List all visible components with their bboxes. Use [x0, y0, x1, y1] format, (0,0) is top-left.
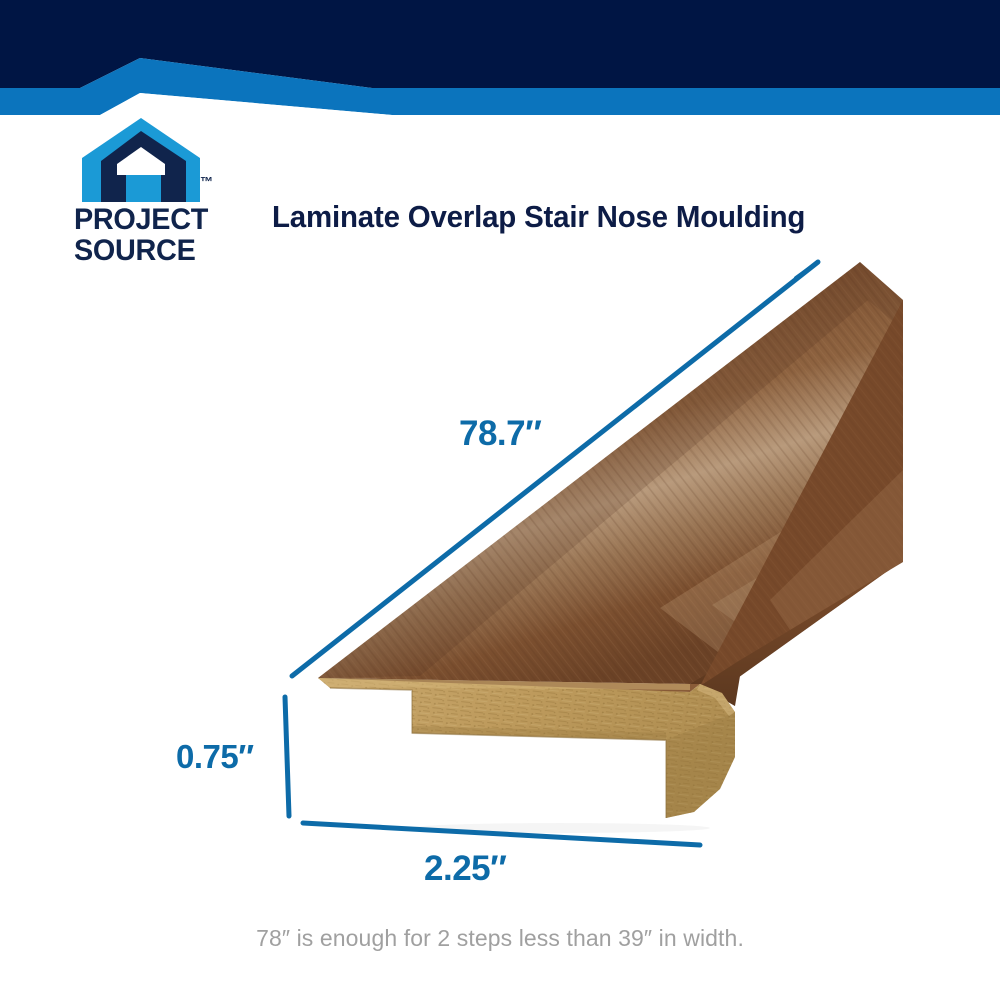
dimension-tick-length-start — [292, 658, 315, 676]
dimension-tick-length-end — [796, 262, 818, 278]
dimension-label-length: 78.7″ — [459, 414, 541, 454]
infographic-canvas: ™ PROJECT SOURCE Laminate Overlap Stair … — [0, 0, 1000, 1000]
dimension-label-width: 2.25″ — [424, 849, 506, 889]
dimension-label-thickness: 0.75″ — [176, 738, 254, 776]
product-end-grain-section — [318, 678, 735, 818]
dimension-line-thickness — [285, 697, 289, 816]
footer-note: 78″ is enough for 2 steps less than 39″ … — [0, 925, 1000, 952]
